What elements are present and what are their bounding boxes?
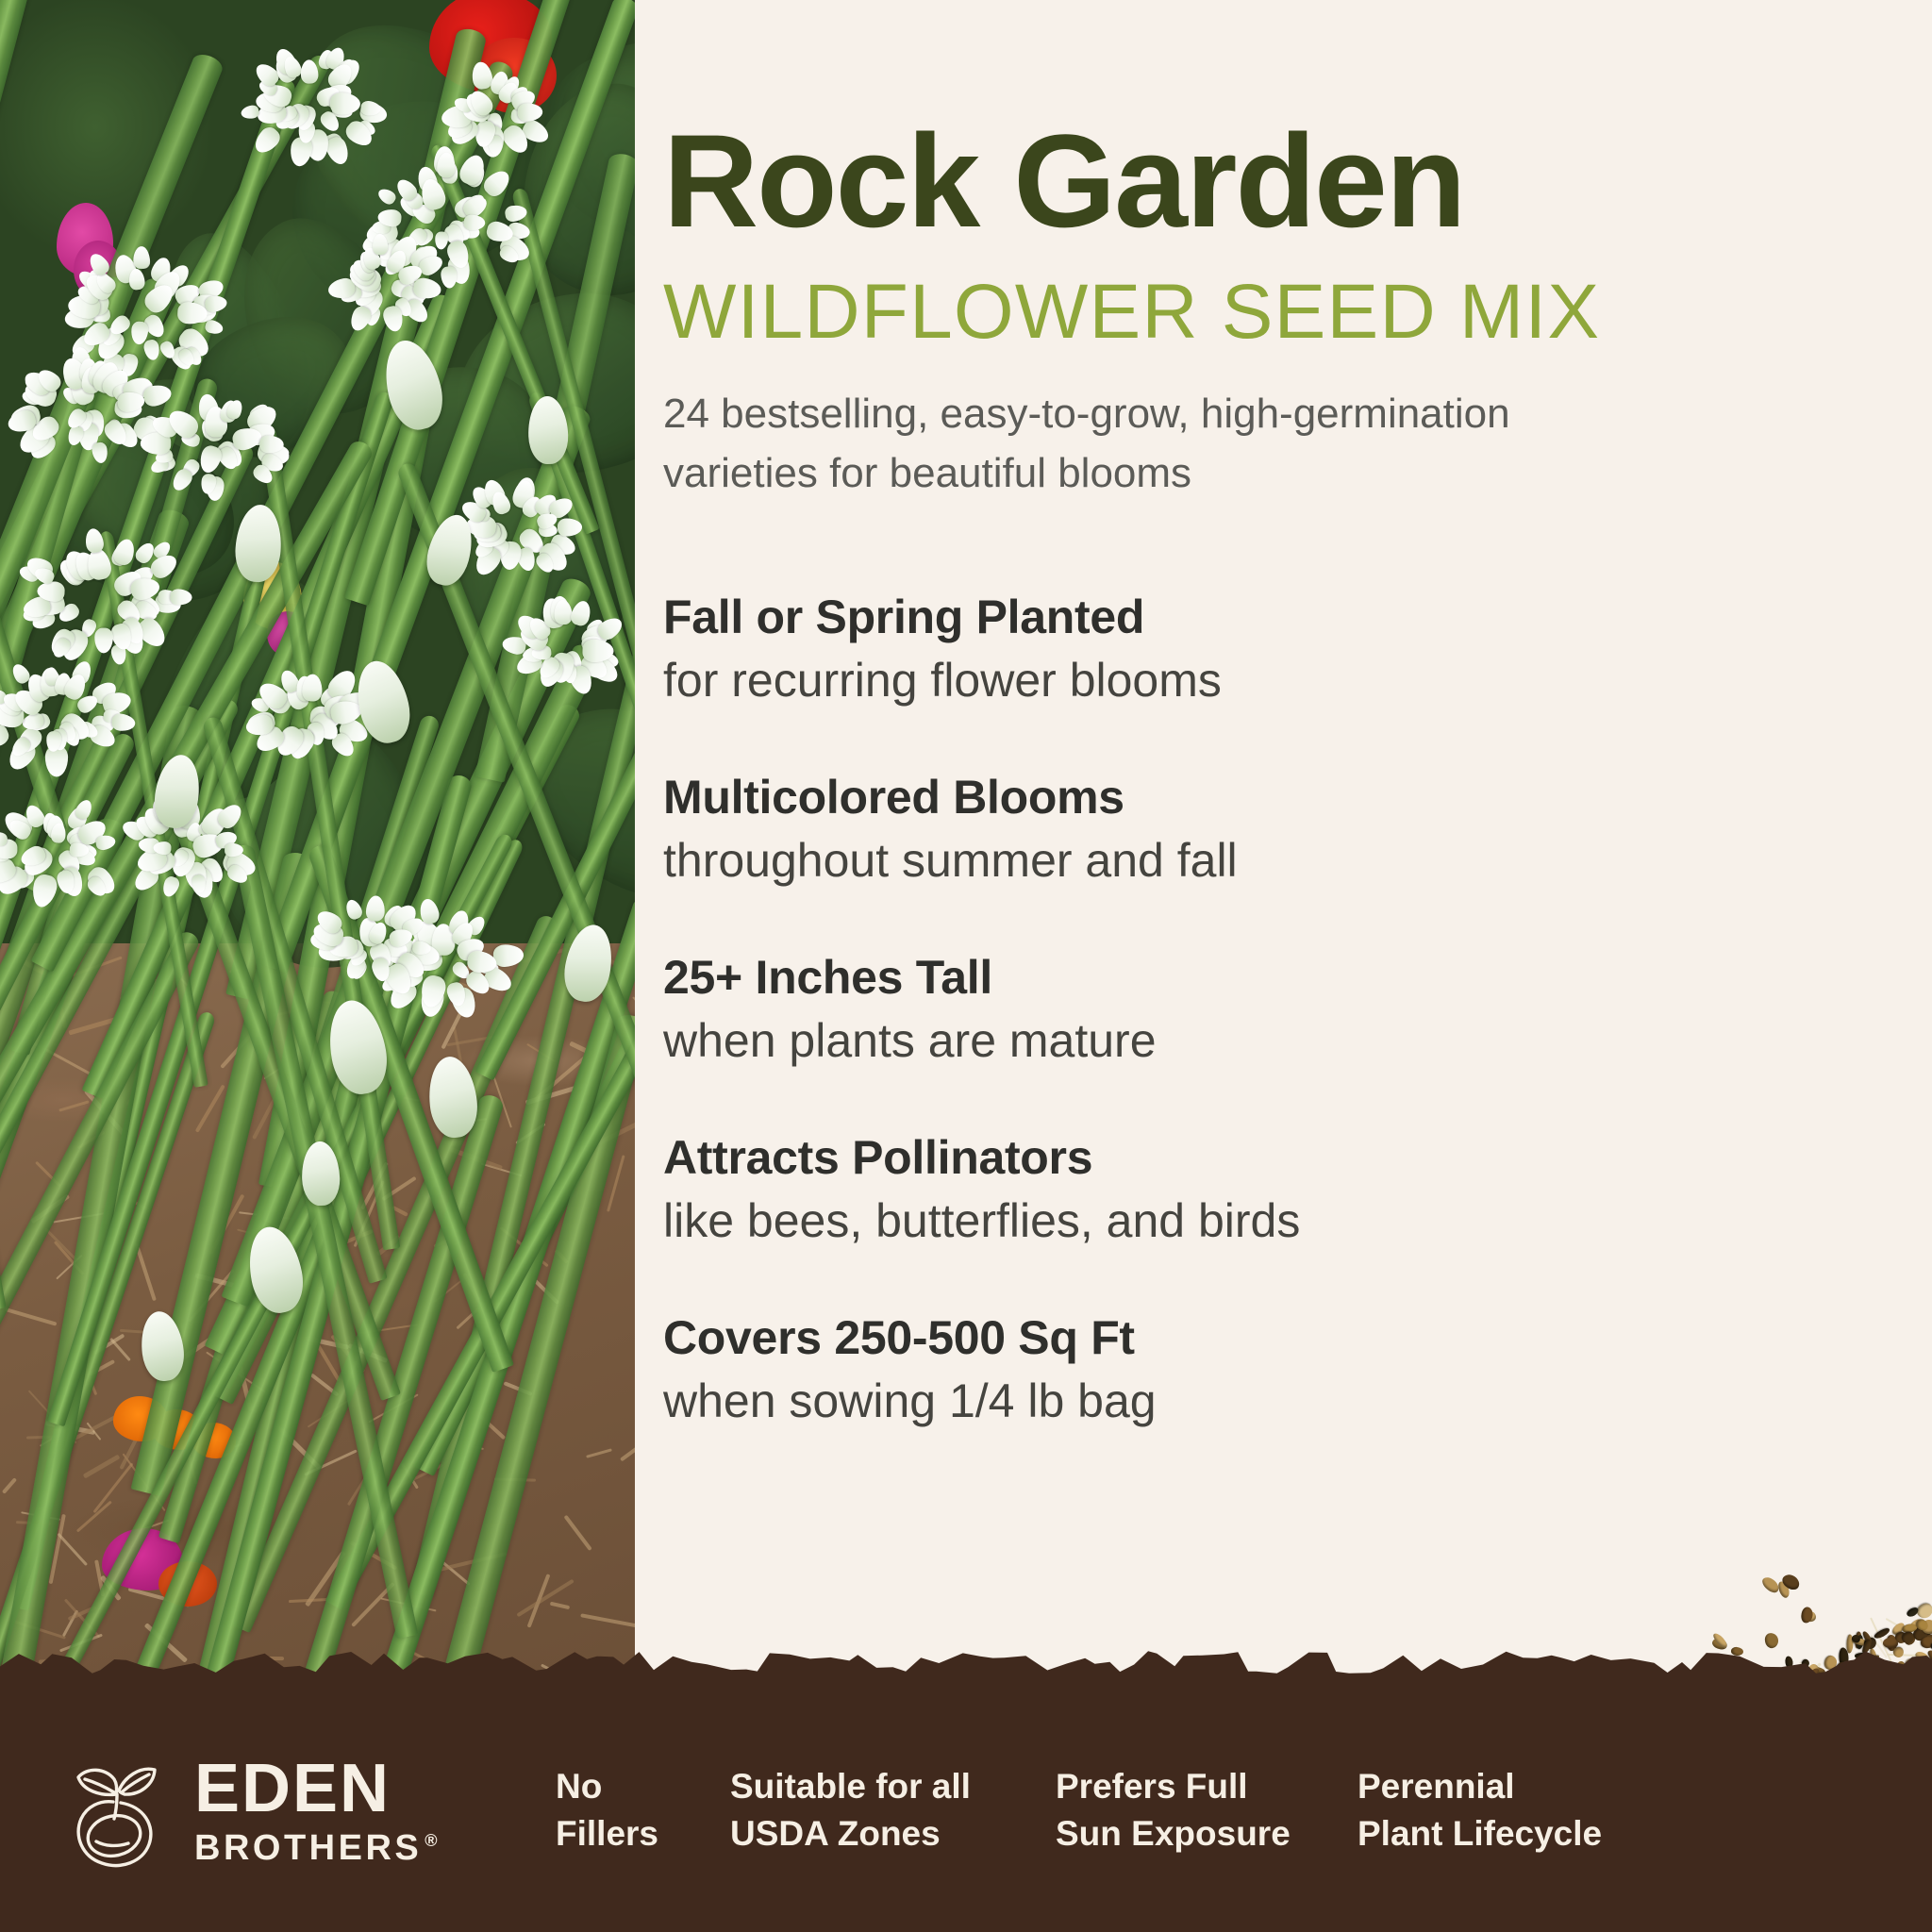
footer-badges: No Fillers Suitable for all USDA Zones P… (556, 1763, 1641, 1857)
feature-heading: Multicolored Blooms (663, 770, 1866, 825)
feature-subtext: throughout summer and fall (663, 831, 1866, 890)
feature-item: Attracts Pollinators like bees, butterfl… (663, 1130, 1866, 1250)
feature-subtext: when plants are mature (663, 1011, 1866, 1070)
product-subtitle: WILDFLOWER SEED MIX (663, 270, 1866, 355)
registered-trademark-icon: ® (425, 1832, 441, 1849)
product-photo (0, 0, 635, 1726)
badge-usda-zones: Suitable for all USDA Zones (730, 1763, 1056, 1857)
brand-logo: EDEN BROTHERS ® (62, 1751, 441, 1870)
logo-wordmark-eden: EDEN (194, 1755, 441, 1823)
photo-artwork (0, 0, 635, 1726)
feature-list: Fall or Spring Planted for recurring flo… (663, 590, 1866, 1430)
badge-sun-exposure: Prefers Full Sun Exposure (1056, 1763, 1357, 1857)
content-panel: Rock Garden WILDFLOWER SEED MIX 24 bests… (635, 0, 1932, 1726)
feature-item: Covers 250-500 Sq Ft when sowing 1/4 lb … (663, 1310, 1866, 1430)
feature-item: 25+ Inches Tall when plants are mature (663, 950, 1866, 1070)
badge-no-fillers: No Fillers (556, 1763, 730, 1857)
badge-plant-lifecycle: Perennial Plant Lifecycle (1357, 1763, 1641, 1857)
product-graphic: Rock Garden WILDFLOWER SEED MIX 24 bests… (0, 0, 1932, 1932)
feature-heading: 25+ Inches Tall (663, 950, 1866, 1006)
feature-subtext: for recurring flower blooms (663, 651, 1866, 709)
feature-item: Multicolored Blooms throughout summer an… (663, 770, 1866, 890)
logo-wordmark-brothers: BROTHERS ® (194, 1830, 441, 1866)
feature-heading: Covers 250-500 Sq Ft (663, 1310, 1866, 1366)
feature-subtext: when sowing 1/4 lb bag (663, 1372, 1866, 1430)
torn-soil-edge (0, 1645, 1932, 1690)
product-description: 24 bestselling, easy-to-grow, high-germi… (663, 385, 1663, 503)
footer-bar: EDEN BROTHERS ® No Fillers Suitable for … (0, 1689, 1932, 1932)
feature-heading: Fall or Spring Planted (663, 590, 1866, 645)
feature-subtext: like bees, butterflies, and birds (663, 1191, 1866, 1250)
sprout-icon (62, 1751, 174, 1870)
feature-item: Fall or Spring Planted for recurring flo… (663, 590, 1866, 709)
feature-heading: Attracts Pollinators (663, 1130, 1866, 1186)
page-title: Rock Garden (663, 115, 1866, 247)
logo-brothers-text: BROTHERS (194, 1830, 422, 1866)
